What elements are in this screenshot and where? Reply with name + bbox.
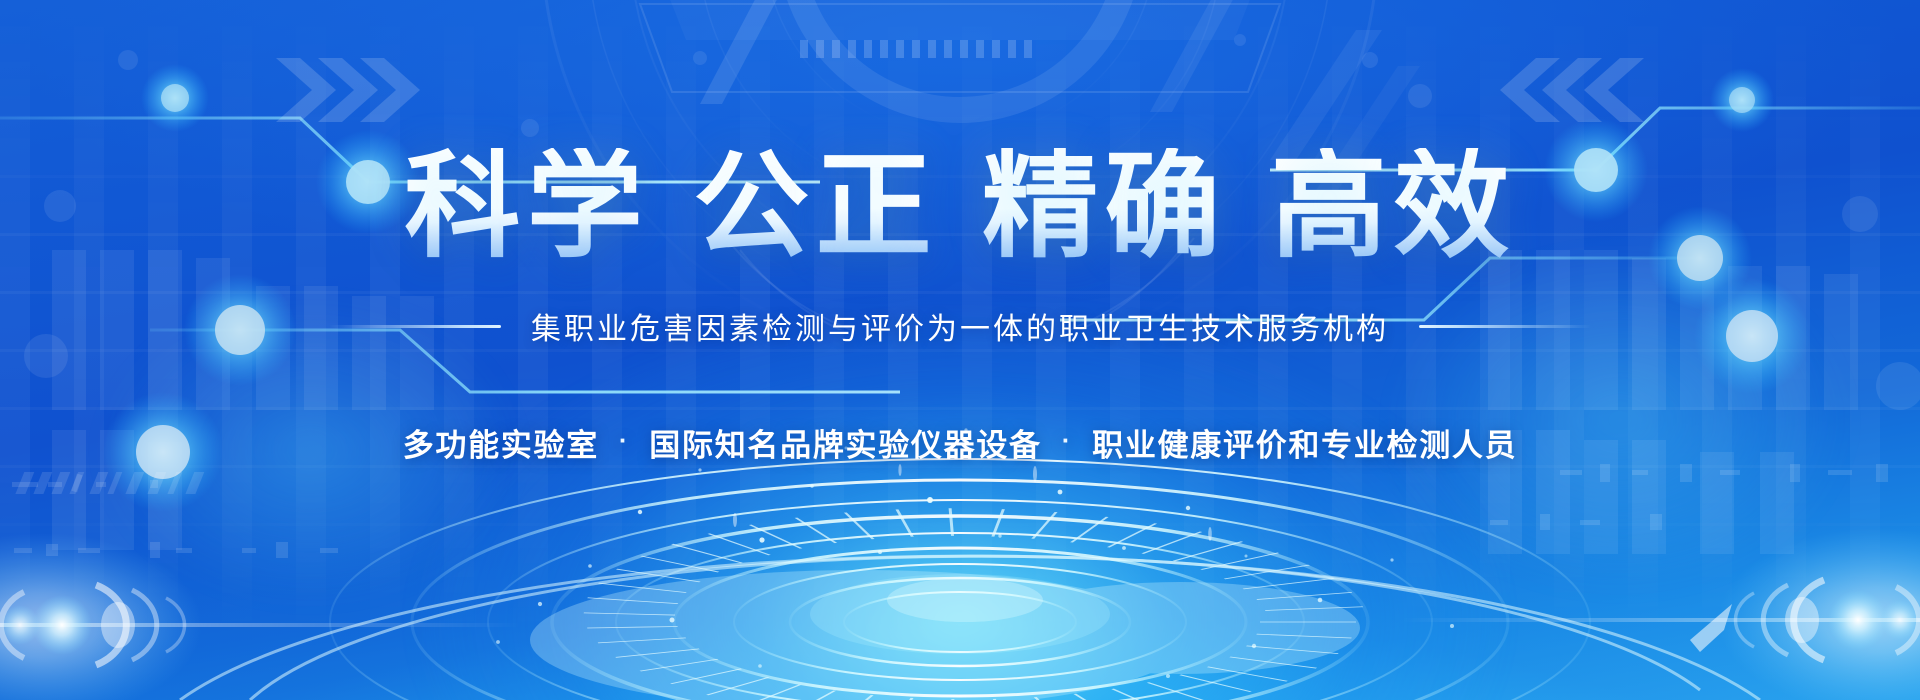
headline-word-2: 公正: [693, 141, 938, 271]
subtitle-text: 集职业危害因素检测与评价为一体的职业卫生技术服务机构: [531, 304, 1389, 348]
subtitle-row: 集职业危害因素检测与评价为一体的职业卫生技术服务机构: [329, 304, 1591, 348]
page-title: 科学公正精确高效: [404, 148, 1515, 264]
headline-word-1: 科学: [404, 141, 649, 271]
headline-word-3: 精确: [982, 141, 1227, 271]
subtitle-rule-right: [1419, 325, 1591, 328]
headline-word-4: 高效: [1271, 141, 1516, 271]
feature-list: 多功能实验室 · 国际知名品牌实验仪器设备 · 职业健康评价和专业检测人员: [403, 420, 1518, 465]
feature-item-3: 职业健康评价和专业检测人员: [1092, 420, 1517, 465]
feature-item-2: 国际知名品牌实验仪器设备: [649, 420, 1041, 465]
banner-content: 科学公正精确高效 集职业危害因素检测与评价为一体的职业卫生技术服务机构 多功能实…: [0, 0, 1920, 700]
hero-banner: 科学公正精确高效 集职业危害因素检测与评价为一体的职业卫生技术服务机构 多功能实…: [0, 0, 1920, 700]
feature-separator-1: ·: [619, 425, 629, 456]
feature-item-1: 多功能实验室: [403, 420, 599, 465]
feature-separator-2: ·: [1062, 425, 1072, 456]
subtitle-rule-left: [329, 325, 501, 328]
